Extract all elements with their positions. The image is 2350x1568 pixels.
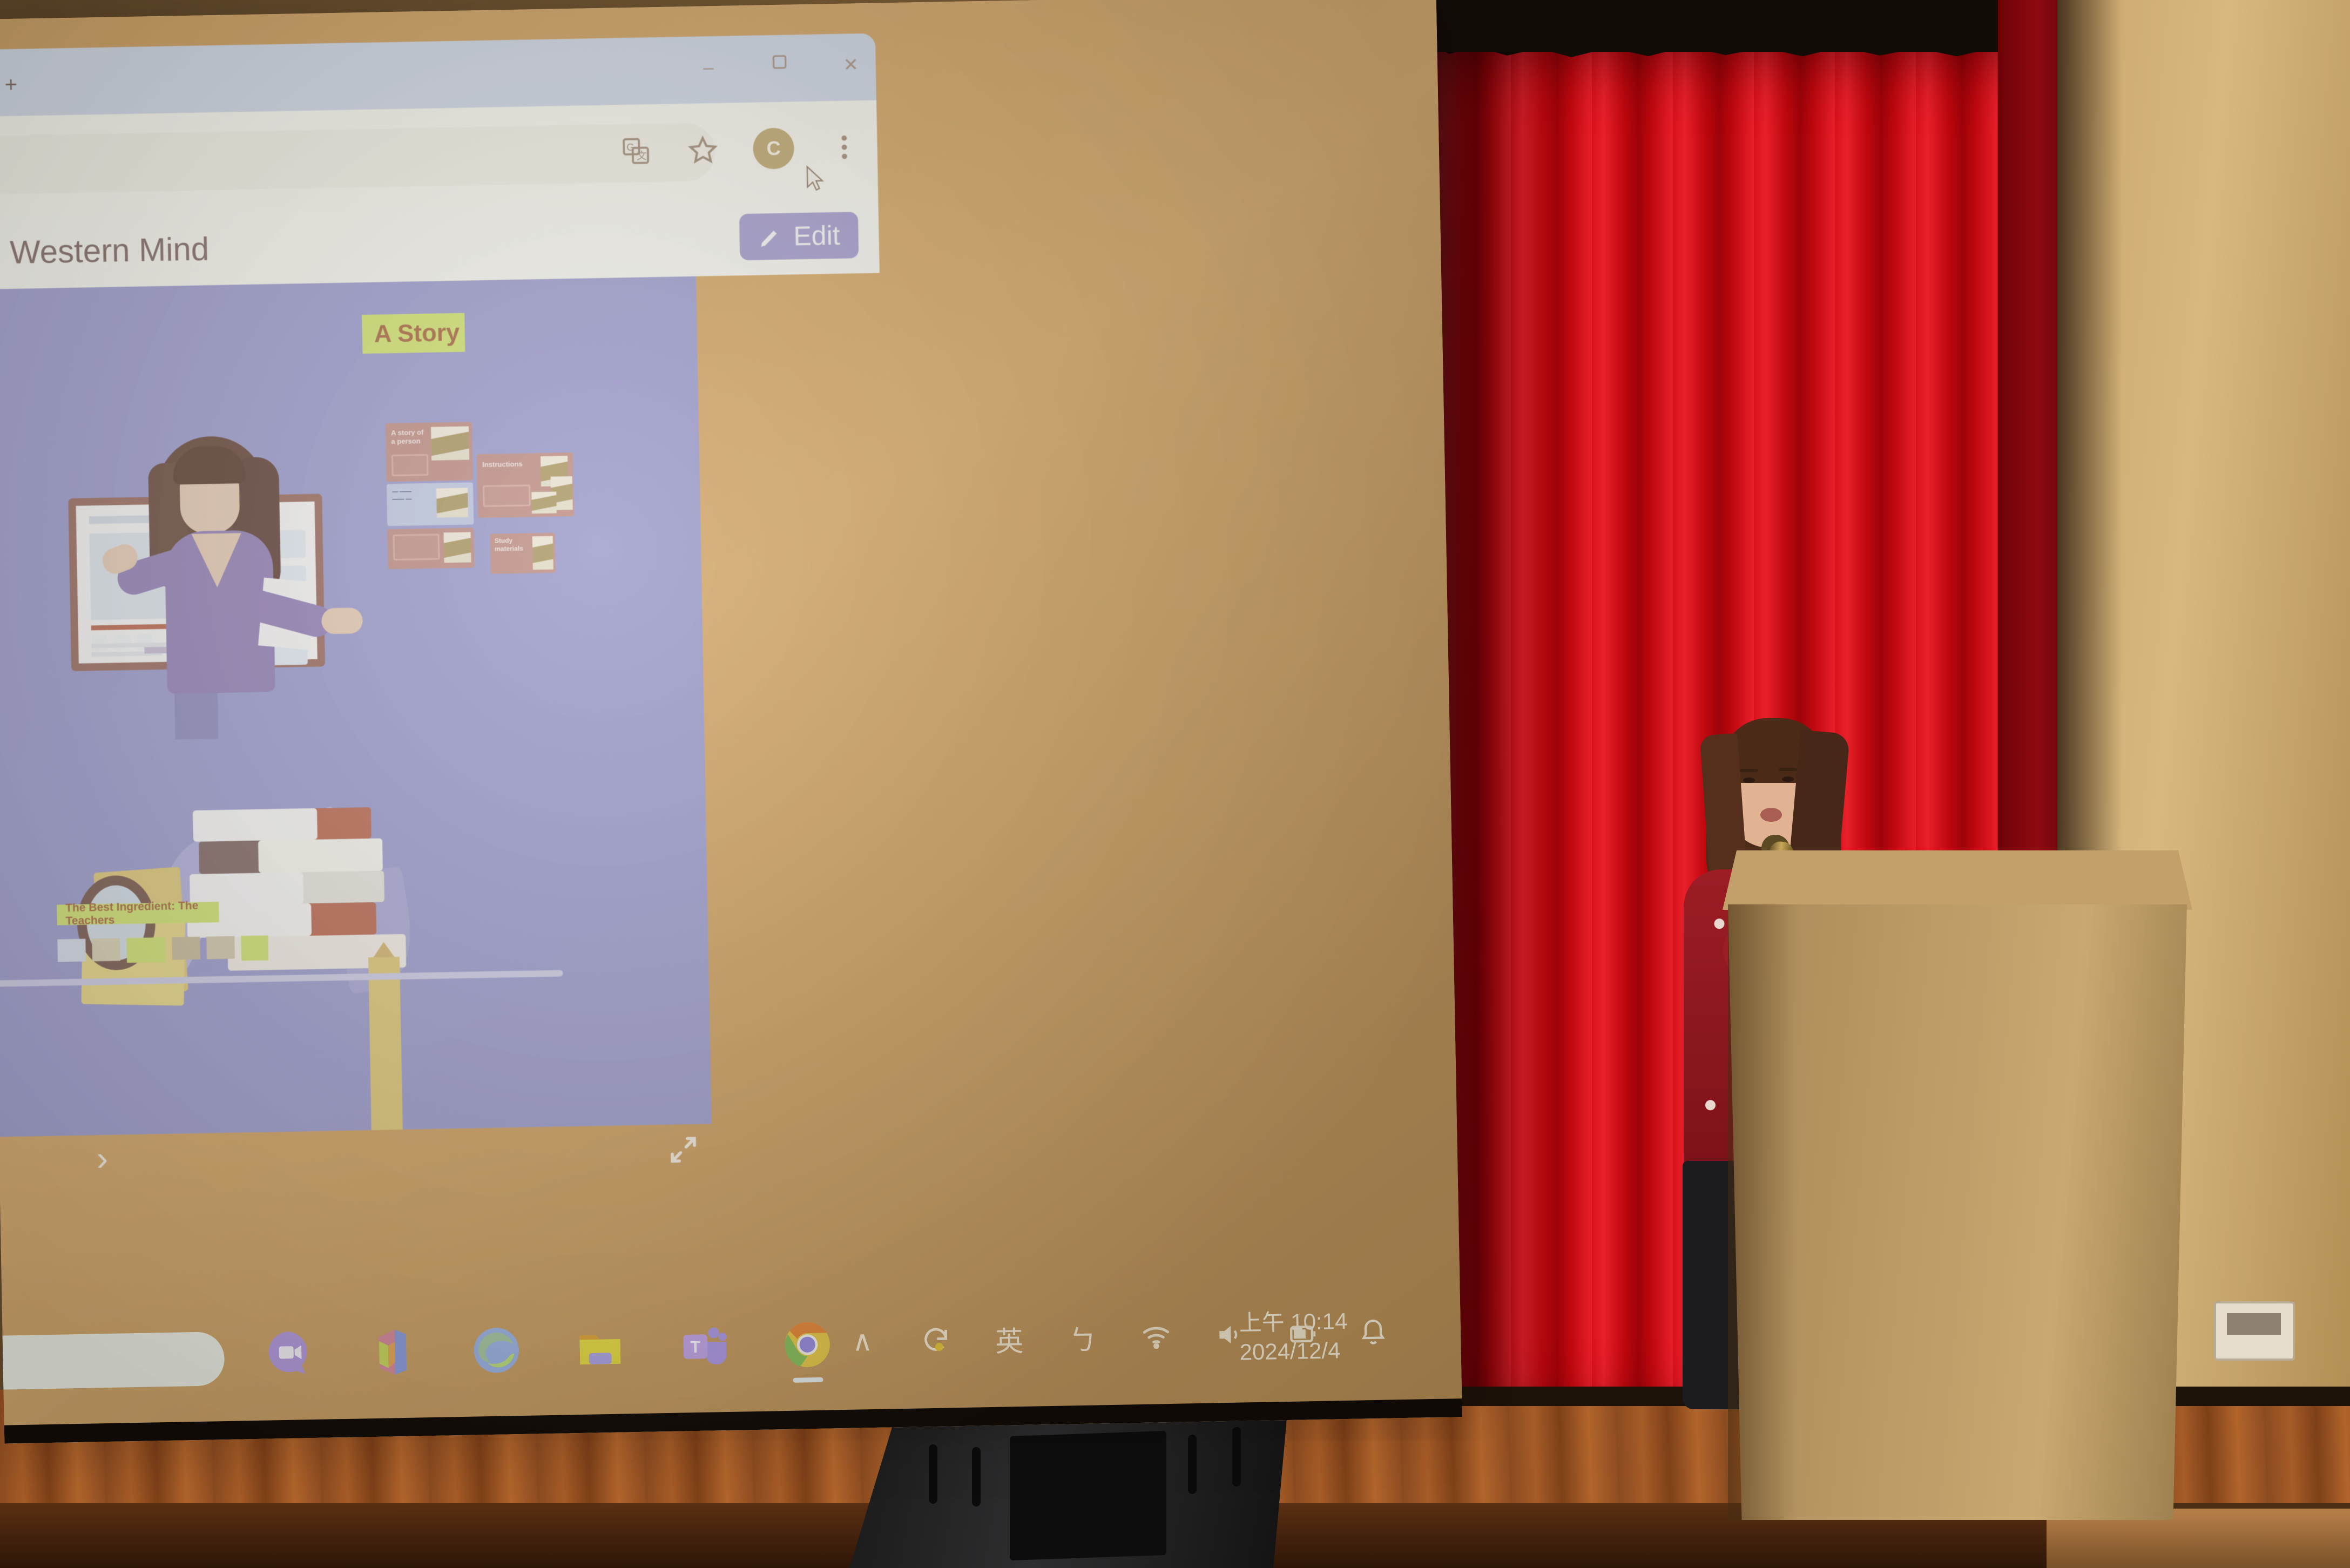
thumb-card-blue[interactable]: ― ―――― ― xyxy=(387,482,474,526)
vent-slot xyxy=(929,1444,937,1504)
book-pages xyxy=(193,808,318,842)
eye-right xyxy=(1782,776,1794,782)
thumb-small xyxy=(57,939,86,962)
thumb-small-highlight xyxy=(126,937,166,963)
taskbar-clock[interactable]: 上午 10:14 2024/12/4 xyxy=(1239,1307,1348,1367)
minimize-button[interactable]: – xyxy=(693,52,724,83)
pencil-icon xyxy=(758,225,782,249)
thumb-title: Instructions xyxy=(482,460,523,469)
illustration-woman xyxy=(140,435,307,691)
translate-icon[interactable]: G 文 xyxy=(619,134,653,168)
thumb-card-story-of-a-person[interactable]: A story of a person xyxy=(386,422,473,482)
book-pages xyxy=(258,839,383,873)
window-controls[interactable]: – ✕ xyxy=(693,50,866,83)
eyebrow-left xyxy=(1740,769,1758,772)
thumb-small xyxy=(92,938,120,961)
taskbar-app-icons: T xyxy=(261,1317,835,1381)
search-input[interactable] xyxy=(0,1332,225,1390)
speaker-grille xyxy=(1010,1431,1166,1560)
thumb-card-study-materials[interactable]: Study materials xyxy=(490,533,556,574)
projection-screen: ✕ + – ✕ xyxy=(0,0,1462,1444)
thumb-small xyxy=(172,937,200,960)
file-explorer-icon[interactable] xyxy=(572,1321,627,1376)
toolbar-icons: G 文 C xyxy=(619,126,861,172)
pencil xyxy=(368,957,403,1130)
page-header-bar: Shapes the Western Mind Edit xyxy=(0,200,880,291)
slide-canvas[interactable]: w xyxy=(0,276,712,1140)
podium xyxy=(1723,850,2192,1525)
browser-toolbar: G 文 C xyxy=(0,100,878,218)
three-dot-menu-icon[interactable] xyxy=(827,130,861,164)
close-button[interactable]: ✕ xyxy=(835,50,866,80)
vent-slot xyxy=(1188,1435,1197,1494)
mouth xyxy=(1760,808,1782,822)
show-hidden-icons[interactable]: ∧ xyxy=(845,1324,880,1359)
vent-slot xyxy=(1232,1427,1241,1486)
page-title: Shapes the Western Mind xyxy=(0,230,210,274)
svg-text:文: 文 xyxy=(637,150,647,161)
podium-shadow xyxy=(1728,904,1798,1520)
microsoft-365-icon[interactable] xyxy=(365,1324,420,1380)
hand-right xyxy=(321,607,363,634)
mouse-cursor xyxy=(805,165,825,193)
svg-text:T: T xyxy=(690,1337,701,1356)
thumb-title: A story of a person xyxy=(391,428,429,447)
address-bar[interactable] xyxy=(0,123,716,197)
star-icon[interactable] xyxy=(686,133,720,167)
thumb-strip-bottom[interactable] xyxy=(57,935,268,964)
maximize-button[interactable] xyxy=(764,51,795,82)
browser-window[interactable]: ✕ + – ✕ xyxy=(0,33,897,1233)
thumb-card-small[interactable] xyxy=(387,528,474,569)
auditorium-scene: ✕ + – ✕ xyxy=(0,0,2350,1568)
wifi-icon[interactable] xyxy=(1138,1319,1173,1354)
ime-mode-english[interactable]: 英 xyxy=(992,1321,1027,1356)
teams-icon[interactable]: T xyxy=(676,1319,731,1374)
slide-navigation: ‹ › xyxy=(0,1124,713,1204)
label-best-ingredient: The Best Ingredient: The Teachers xyxy=(57,902,219,925)
thumb-card-instructions[interactable]: Instructions xyxy=(477,452,574,518)
thumb-small-highlight xyxy=(241,935,268,961)
chrome-icon[interactable] xyxy=(780,1317,835,1372)
edge-icon[interactable] xyxy=(469,1323,524,1378)
edit-button[interactable]: Edit xyxy=(739,212,859,260)
edit-button-label: Edit xyxy=(793,220,840,252)
vent-slot xyxy=(972,1447,981,1506)
clock-time: 上午 10:14 xyxy=(1239,1307,1348,1337)
label-a-story: A Story xyxy=(362,313,465,354)
thumb-small xyxy=(206,936,235,959)
clock-date: 2024/12/4 xyxy=(1239,1336,1348,1367)
thumb-title: Study materials xyxy=(495,537,529,553)
avatar[interactable]: C xyxy=(753,127,794,169)
podium-top xyxy=(1723,850,2192,910)
chat-teams-icon[interactable] xyxy=(261,1327,316,1382)
wall-socket-plate xyxy=(2214,1301,2295,1361)
sync-icon[interactable] xyxy=(919,1322,954,1357)
expand-icon[interactable] xyxy=(666,1133,700,1167)
notification-icon[interactable] xyxy=(1358,1317,1389,1349)
ime-bopomofo[interactable]: ㄅ xyxy=(1065,1320,1100,1355)
windows-taskbar[interactable]: T ∧ xyxy=(2,1263,1462,1425)
next-slide-button[interactable]: › xyxy=(96,1138,109,1178)
eye-left xyxy=(1743,778,1755,783)
plus-icon[interactable]: + xyxy=(0,72,24,98)
eyebrow-right xyxy=(1779,768,1797,771)
